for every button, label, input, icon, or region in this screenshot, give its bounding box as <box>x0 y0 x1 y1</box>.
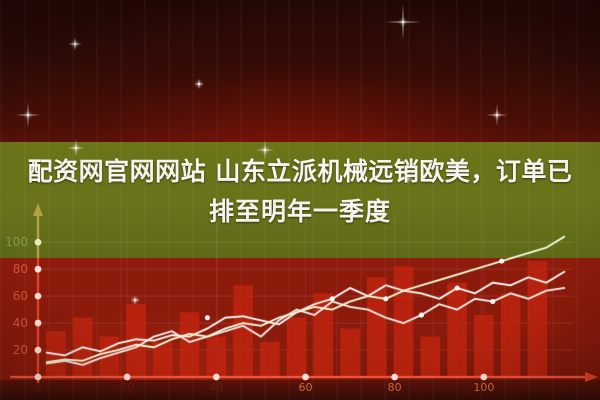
x-tick-label: 60 <box>299 381 313 394</box>
y-tick-label: 20 <box>13 343 28 357</box>
x-tick-label: 0 <box>35 381 42 394</box>
x-tick-label: 100 <box>473 381 494 394</box>
chart-bars <box>46 261 547 377</box>
y-tick-label: 100 <box>5 235 28 249</box>
y-tick-label: 40 <box>13 316 28 330</box>
x-tick-label: 40 <box>209 381 223 394</box>
y-tick-label: 80 <box>13 262 28 276</box>
poster-image: 02040608010020406080100 配资网官网网站 山东立派机械远销… <box>0 0 600 400</box>
title-line-1: 配资网官网网站 山东立派机械远销欧美，订单已 <box>0 152 600 192</box>
x-tick-label: 20 <box>120 381 134 394</box>
page-title: 配资网官网网站 山东立派机械远销欧美，订单已 排至明年一季度 <box>0 152 600 232</box>
x-tick-label: 80 <box>388 381 402 394</box>
title-line-2: 排至明年一季度 <box>0 192 600 232</box>
y-tick-label: 60 <box>13 289 28 303</box>
